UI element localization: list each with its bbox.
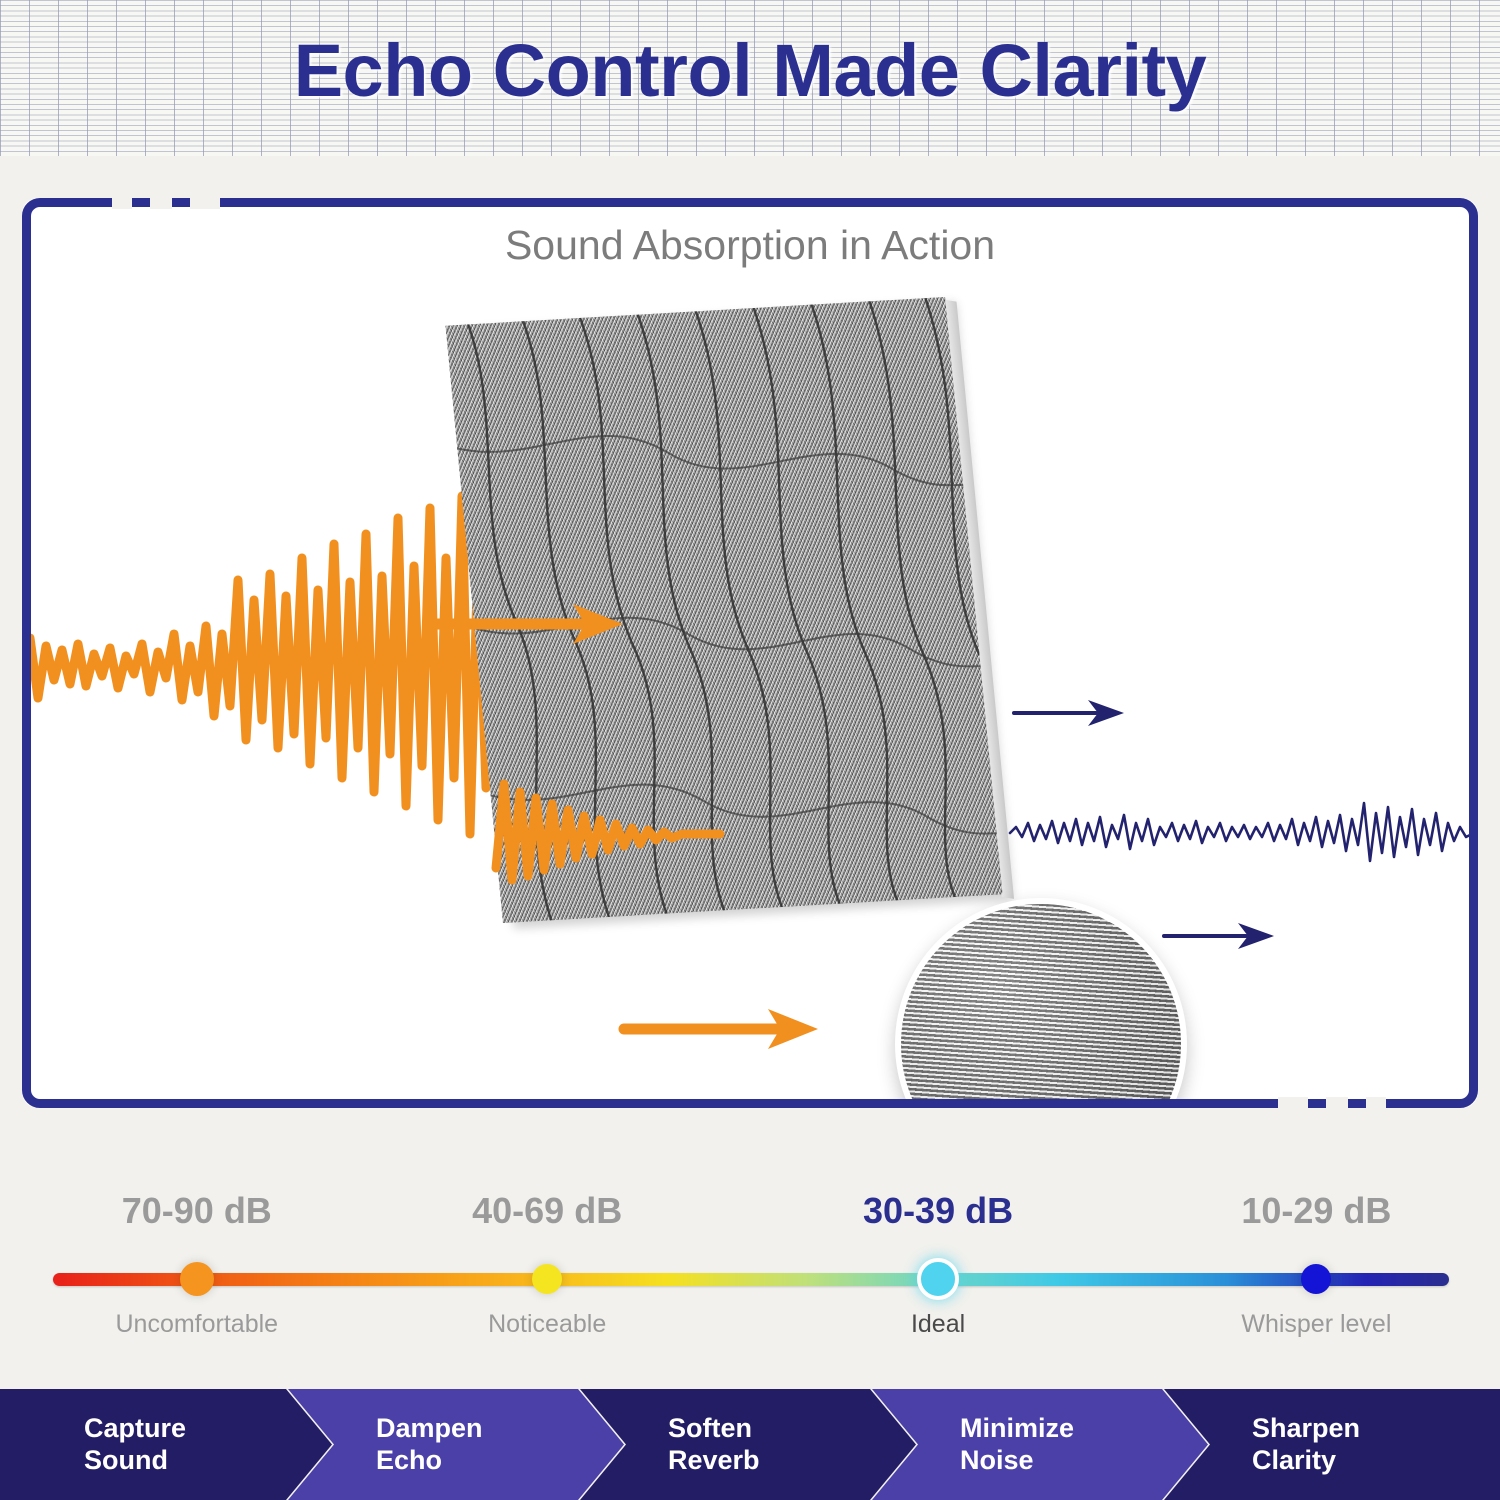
process-step-line2: Reverb <box>668 1445 760 1476</box>
sound-in-arrow-top <box>427 598 637 650</box>
process-step-label: SoftenReverb <box>668 1413 760 1475</box>
border-dash-gap <box>1278 1097 1308 1110</box>
db-marker-dot-1[interactable] <box>532 1264 562 1294</box>
border-dash-gap <box>1326 1097 1348 1110</box>
sound-in-arrow-bottom <box>622 1003 832 1055</box>
process-step-line1: Sharpen <box>1252 1413 1360 1444</box>
process-step-1[interactable]: DampenEcho <box>288 1389 624 1500</box>
fabric-magnifier[interactable] <box>895 898 1187 1108</box>
process-ribbon: CaptureSoundDampenEchoSoftenReverbMinimi… <box>0 1389 1500 1500</box>
page-title: Echo Control Made Clarity <box>0 34 1500 108</box>
border-dash-gap <box>112 196 132 209</box>
process-step-label: MinimizeNoise <box>960 1413 1074 1475</box>
process-step-2[interactable]: SoftenReverb <box>580 1389 916 1500</box>
process-step-label: SharpenClarity <box>1252 1413 1360 1475</box>
border-dash-gap <box>190 196 220 209</box>
db-range-label-2: 30-39 dB <box>863 1190 1013 1232</box>
border-dash-gap <box>150 196 172 209</box>
process-step-label: CaptureSound <box>84 1413 186 1475</box>
db-caption-0: Uncomfortable <box>115 1310 278 1339</box>
process-step-3[interactable]: MinimizeNoise <box>872 1389 1208 1500</box>
border-dash-gap <box>1366 1097 1386 1110</box>
db-gradient-bar[interactable] <box>53 1273 1449 1286</box>
process-step-line1: Soften <box>668 1413 760 1444</box>
waveform-before-attenuating <box>492 758 742 908</box>
db-marker-dot-2[interactable] <box>917 1258 959 1300</box>
db-range-label-3: 10-29 dB <box>1241 1190 1391 1232</box>
process-step-line2: Noise <box>960 1445 1074 1476</box>
panel-heading: Sound Absorption in Action <box>22 222 1478 269</box>
db-caption-1: Noticeable <box>488 1310 606 1339</box>
process-step-line1: Capture <box>84 1413 186 1444</box>
sound-out-arrow-top <box>1012 693 1132 733</box>
db-caption-3: Whisper level <box>1241 1310 1391 1339</box>
process-step-4[interactable]: SharpenClarity <box>1164 1389 1500 1500</box>
panel-stage: Fabric-Texture Print Before After Sound … <box>22 198 1478 1108</box>
process-step-line2: Echo <box>376 1445 483 1476</box>
db-marker-dot-3[interactable] <box>1301 1264 1331 1294</box>
process-step-line1: Minimize <box>960 1413 1074 1444</box>
waveform-after <box>1008 773 1478 893</box>
process-step-line1: Dampen <box>376 1413 483 1444</box>
process-step-line2: Clarity <box>1252 1445 1360 1476</box>
magnifier-shade <box>901 904 1181 1108</box>
demo-panel: Fabric-Texture Print Before After Sound … <box>22 198 1478 1108</box>
header-banner: Echo Control Made Clarity <box>0 0 1500 156</box>
process-step-0[interactable]: CaptureSound <box>0 1389 332 1500</box>
db-range-label-1: 40-69 dB <box>472 1190 622 1232</box>
db-marker-dot-0[interactable] <box>180 1262 214 1296</box>
process-step-line2: Sound <box>84 1445 186 1476</box>
db-caption-2: Ideal <box>911 1310 965 1339</box>
db-range-label-0: 70-90 dB <box>122 1190 272 1232</box>
process-step-label: DampenEcho <box>376 1413 483 1475</box>
